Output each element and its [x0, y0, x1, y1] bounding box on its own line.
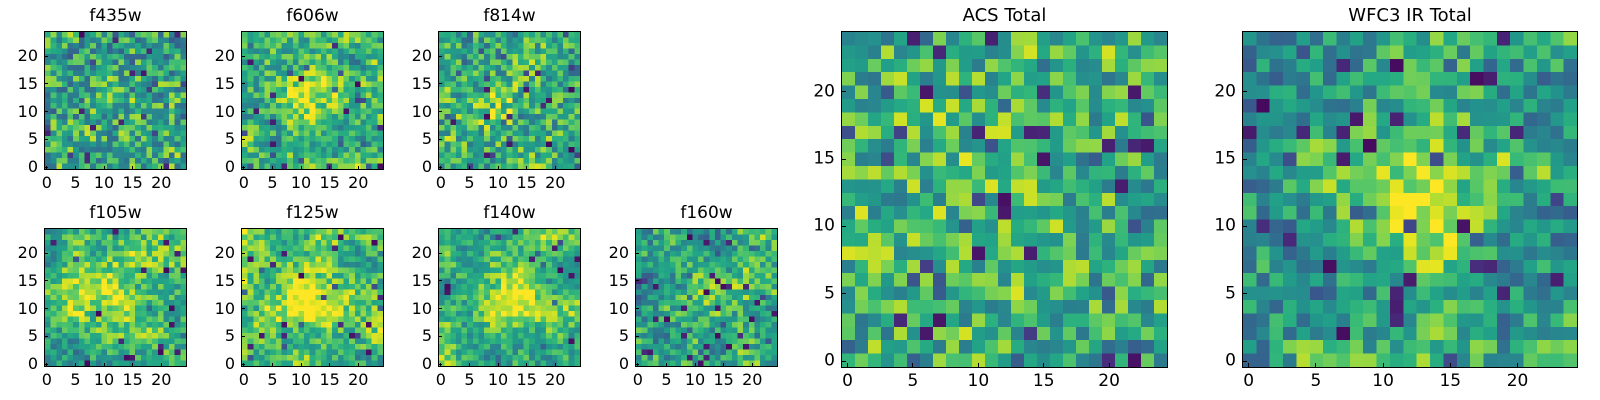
y-tickmark-wfc3-ir-total-2	[1242, 226, 1247, 227]
x-tick-label-wfc3-ir-total-1: 5	[1310, 373, 1321, 390]
y-tick-label-acs-total-3: 15	[813, 151, 835, 168]
y-tickmark-f435w-2	[44, 111, 48, 112]
x-tick-label-f435w-3: 15	[122, 175, 142, 191]
y-tickmark-f125w-3	[241, 280, 245, 281]
x-tick-label-f435w-1: 5	[70, 175, 80, 191]
x-tickmark-f140w-4	[555, 363, 556, 367]
plot-area-f160w	[635, 228, 778, 367]
x-tick-label-acs-total-2: 10	[968, 373, 990, 390]
y-tickmark-acs-total-1	[841, 293, 846, 294]
x-tick-label-f125w-3: 15	[319, 372, 339, 388]
x-tick-label-f606w-4: 20	[348, 175, 368, 191]
x-tick-label-f160w-1: 5	[661, 372, 671, 388]
x-tickmark-acs-total-0	[847, 363, 848, 368]
y-tick-label-f125w-3: 15	[215, 273, 235, 289]
x-tick-label-f105w-4: 20	[151, 372, 171, 388]
x-tickmark-f435w-1	[75, 166, 76, 170]
x-tick-label-acs-total-0: 0	[842, 373, 853, 390]
y-tickmark-f140w-1	[438, 336, 442, 337]
x-tick-label-f160w-2: 10	[685, 372, 705, 388]
x-tick-label-wfc3-ir-total-4: 20	[1507, 373, 1529, 390]
y-tick-label-f105w-0: 0	[28, 356, 38, 372]
y-tickmark-f105w-4	[44, 253, 48, 254]
y-tick-label-f160w-1: 5	[619, 328, 629, 344]
x-tickmark-wfc3-ir-total-1	[1315, 363, 1316, 368]
x-tick-label-f105w-2: 10	[94, 372, 114, 388]
panel-wfc3-ir-total: WFC3 IR Total0510152005101520	[1242, 31, 1578, 368]
x-tick-label-f814w-1: 5	[464, 175, 474, 191]
y-tickmark-f105w-3	[44, 280, 48, 281]
y-tickmark-f105w-2	[44, 308, 48, 309]
x-tickmark-f814w-2	[498, 166, 499, 170]
x-tickmark-acs-total-1	[912, 363, 913, 368]
x-tick-label-f140w-4: 20	[545, 372, 565, 388]
plot-area-f435w	[44, 31, 187, 170]
y-tick-label-f140w-1: 5	[422, 328, 432, 344]
x-tick-label-f606w-1: 5	[267, 175, 277, 191]
y-tickmark-acs-total-0	[841, 361, 846, 362]
y-tick-label-f606w-1: 5	[225, 131, 235, 147]
panel-f435w: f435w0510152005101520	[44, 31, 187, 170]
x-tick-label-f160w-4: 20	[742, 372, 762, 388]
x-tick-label-f160w-0: 0	[633, 372, 643, 388]
x-tickmark-f435w-2	[104, 166, 105, 170]
y-tick-label-f435w-0: 0	[28, 159, 38, 175]
x-tickmark-f814w-4	[555, 166, 556, 170]
heatmap-image-f160w	[636, 229, 777, 366]
y-tick-label-acs-total-4: 20	[813, 83, 835, 100]
y-tick-label-wfc3-ir-total-1: 5	[1225, 285, 1236, 302]
y-tickmark-f435w-1	[44, 139, 48, 140]
plot-area-f140w	[438, 228, 581, 367]
y-tickmark-f160w-4	[635, 253, 639, 254]
y-tick-label-f814w-4: 20	[412, 48, 432, 64]
heatmap-image-f125w	[242, 229, 383, 366]
x-tickmark-f105w-3	[132, 363, 133, 367]
y-tickmark-wfc3-ir-total-3	[1242, 159, 1247, 160]
x-tick-label-f814w-2: 10	[488, 175, 508, 191]
y-tick-label-wfc3-ir-total-3: 15	[1214, 151, 1236, 168]
y-tick-label-acs-total-0: 0	[824, 353, 835, 370]
y-tick-label-f125w-0: 0	[225, 356, 235, 372]
y-tickmark-f160w-2	[635, 308, 639, 309]
y-tickmark-f140w-3	[438, 280, 442, 281]
y-tickmark-f814w-0	[438, 167, 442, 168]
y-tickmark-f105w-1	[44, 336, 48, 337]
x-tickmark-f105w-1	[75, 363, 76, 367]
x-tick-label-f140w-0: 0	[436, 372, 446, 388]
y-tickmark-f160w-1	[635, 336, 639, 337]
y-tick-label-f160w-0: 0	[619, 356, 629, 372]
y-tickmark-wfc3-ir-total-0	[1242, 361, 1247, 362]
x-tickmark-wfc3-ir-total-0	[1248, 363, 1249, 368]
x-tick-label-f435w-4: 20	[151, 175, 171, 191]
y-tick-label-f140w-0: 0	[422, 356, 432, 372]
y-tickmark-acs-total-2	[841, 226, 846, 227]
heatmap-image-f435w	[45, 32, 186, 169]
x-tickmark-f140w-1	[469, 363, 470, 367]
panel-f160w: f160w0510152005101520	[635, 228, 778, 367]
y-tickmark-f606w-2	[241, 111, 245, 112]
x-tick-label-acs-total-4: 20	[1098, 373, 1120, 390]
panel-title-f606w: f606w	[241, 8, 384, 25]
y-tick-label-f160w-4: 20	[609, 245, 629, 261]
x-tickmark-f606w-3	[329, 166, 330, 170]
x-tick-label-f435w-0: 0	[42, 175, 52, 191]
x-tickmark-f814w-3	[526, 166, 527, 170]
y-tickmark-f140w-4	[438, 253, 442, 254]
y-tickmark-f606w-3	[241, 83, 245, 84]
x-tick-label-f160w-3: 15	[713, 372, 733, 388]
y-tickmark-f140w-0	[438, 364, 442, 365]
y-tick-label-f606w-3: 15	[215, 76, 235, 92]
plot-area-f606w	[241, 31, 384, 170]
heatmap-image-acs-total	[842, 32, 1167, 367]
y-tick-label-f606w-0: 0	[225, 159, 235, 175]
y-tickmark-f606w-0	[241, 167, 245, 168]
x-tick-label-f105w-1: 5	[70, 372, 80, 388]
panel-f140w: f140w0510152005101520	[438, 228, 581, 367]
x-tick-label-acs-total-3: 15	[1033, 373, 1055, 390]
y-tick-label-f125w-4: 20	[215, 245, 235, 261]
x-tickmark-f160w-1	[666, 363, 667, 367]
y-tick-label-wfc3-ir-total-4: 20	[1214, 83, 1236, 100]
y-tick-label-f105w-3: 15	[18, 273, 38, 289]
y-tick-label-f435w-2: 10	[18, 104, 38, 120]
x-tick-label-wfc3-ir-total-2: 10	[1372, 373, 1394, 390]
x-tick-label-f814w-3: 15	[516, 175, 536, 191]
y-tick-label-f140w-4: 20	[412, 245, 432, 261]
y-tickmark-f125w-4	[241, 253, 245, 254]
plot-area-f105w	[44, 228, 187, 367]
x-tickmark-f140w-3	[526, 363, 527, 367]
panel-title-f140w: f140w	[438, 205, 581, 222]
x-tick-label-wfc3-ir-total-3: 15	[1439, 373, 1461, 390]
x-tick-label-f140w-2: 10	[488, 372, 508, 388]
x-tick-label-f125w-0: 0	[239, 372, 249, 388]
y-tick-label-f140w-2: 10	[412, 301, 432, 317]
panel-f125w: f125w0510152005101520	[241, 228, 384, 367]
x-tick-label-f140w-1: 5	[464, 372, 474, 388]
panel-title-f125w: f125w	[241, 205, 384, 222]
x-tickmark-f105w-4	[161, 363, 162, 367]
panel-title-wfc3-ir-total: WFC3 IR Total	[1242, 7, 1578, 25]
x-tick-label-f814w-0: 0	[436, 175, 446, 191]
y-tick-label-f606w-4: 20	[215, 48, 235, 64]
x-tickmark-wfc3-ir-total-3	[1450, 363, 1451, 368]
x-tickmark-f435w-3	[132, 166, 133, 170]
panel-title-f814w: f814w	[438, 8, 581, 25]
heatmap-image-f606w	[242, 32, 383, 169]
x-tickmark-f160w-2	[695, 363, 696, 367]
x-tick-label-wfc3-ir-total-0: 0	[1243, 373, 1254, 390]
x-tickmark-f125w-1	[272, 363, 273, 367]
x-tickmark-f435w-4	[161, 166, 162, 170]
y-tick-label-f160w-2: 10	[609, 301, 629, 317]
x-tickmark-f125w-4	[358, 363, 359, 367]
x-tickmark-wfc3-ir-total-2	[1383, 363, 1384, 368]
y-tickmark-f814w-4	[438, 56, 442, 57]
y-tick-label-f125w-2: 10	[215, 301, 235, 317]
plot-area-wfc3-ir-total	[1242, 31, 1578, 368]
y-tick-label-f435w-3: 15	[18, 76, 38, 92]
y-tickmark-f435w-0	[44, 167, 48, 168]
y-tickmark-f125w-0	[241, 364, 245, 365]
y-tick-label-f606w-2: 10	[215, 104, 235, 120]
y-tickmark-f125w-2	[241, 308, 245, 309]
plot-area-f814w	[438, 31, 581, 170]
x-tick-label-f105w-0: 0	[42, 372, 52, 388]
x-tickmark-f814w-1	[469, 166, 470, 170]
y-tickmark-f814w-2	[438, 111, 442, 112]
heatmap-image-f140w	[439, 229, 580, 366]
x-tickmark-f140w-2	[498, 363, 499, 367]
x-tick-label-f125w-1: 5	[267, 372, 277, 388]
y-tickmark-f160w-3	[635, 280, 639, 281]
x-tick-label-f606w-2: 10	[291, 175, 311, 191]
y-tickmark-f814w-3	[438, 83, 442, 84]
panel-f105w: f105w0510152005101520	[44, 228, 187, 367]
x-tickmark-acs-total-4	[1109, 363, 1110, 368]
y-tickmark-f105w-0	[44, 364, 48, 365]
y-tickmark-wfc3-ir-total-4	[1242, 91, 1247, 92]
y-tick-label-acs-total-1: 5	[824, 285, 835, 302]
x-tickmark-f160w-4	[752, 363, 753, 367]
y-tickmark-f606w-4	[241, 56, 245, 57]
x-tickmark-f606w-4	[358, 166, 359, 170]
y-tick-label-f814w-1: 5	[422, 131, 432, 147]
x-tickmark-f125w-3	[329, 363, 330, 367]
x-tickmark-acs-total-2	[978, 363, 979, 368]
x-tick-label-f125w-2: 10	[291, 372, 311, 388]
y-tick-label-f435w-1: 5	[28, 131, 38, 147]
x-tick-label-f606w-3: 15	[319, 175, 339, 191]
x-tickmark-acs-total-3	[1043, 363, 1044, 368]
heatmap-image-f814w	[439, 32, 580, 169]
y-tickmark-f435w-3	[44, 83, 48, 84]
y-tick-label-wfc3-ir-total-2: 10	[1214, 218, 1236, 235]
y-tick-label-acs-total-2: 10	[813, 218, 835, 235]
y-tickmark-wfc3-ir-total-1	[1242, 293, 1247, 294]
y-tick-label-f125w-1: 5	[225, 328, 235, 344]
y-tick-label-f814w-0: 0	[422, 159, 432, 175]
y-tick-label-wfc3-ir-total-0: 0	[1225, 353, 1236, 370]
y-tickmark-acs-total-3	[841, 159, 846, 160]
y-tickmark-f606w-1	[241, 139, 245, 140]
panel-f814w: f814w0510152005101520	[438, 31, 581, 170]
heatmap-image-f105w	[45, 229, 186, 366]
panel-title-acs-total: ACS Total	[841, 7, 1168, 25]
x-tick-label-f435w-2: 10	[94, 175, 114, 191]
x-tick-label-acs-total-1: 5	[908, 373, 919, 390]
y-tickmark-f140w-2	[438, 308, 442, 309]
plot-area-acs-total	[841, 31, 1168, 368]
heatmap-image-wfc3-ir-total	[1243, 32, 1577, 367]
y-tickmark-f160w-0	[635, 364, 639, 365]
y-tick-label-f105w-2: 10	[18, 301, 38, 317]
panel-f606w: f606w0510152005101520	[241, 31, 384, 170]
x-tickmark-f606w-1	[272, 166, 273, 170]
x-tick-label-f125w-4: 20	[348, 372, 368, 388]
x-tickmark-f125w-2	[301, 363, 302, 367]
x-tickmark-wfc3-ir-total-4	[1517, 363, 1518, 368]
x-tickmark-f160w-3	[723, 363, 724, 367]
x-tick-label-f140w-3: 15	[516, 372, 536, 388]
x-tick-label-f105w-3: 15	[122, 372, 142, 388]
panel-title-f160w: f160w	[635, 205, 778, 222]
y-tick-label-f140w-3: 15	[412, 273, 432, 289]
x-tick-label-f814w-4: 20	[545, 175, 565, 191]
plot-area-f125w	[241, 228, 384, 367]
y-tick-label-f105w-1: 5	[28, 328, 38, 344]
x-tick-label-f606w-0: 0	[239, 175, 249, 191]
panel-title-f435w: f435w	[44, 8, 187, 25]
y-tickmark-f814w-1	[438, 139, 442, 140]
y-tick-label-f814w-3: 15	[412, 76, 432, 92]
panel-acs-total: ACS Total0510152005101520	[841, 31, 1168, 368]
x-tickmark-f606w-2	[301, 166, 302, 170]
y-tickmark-f435w-4	[44, 56, 48, 57]
figure-canvas: f435w0510152005101520f606w05101520051015…	[0, 0, 1600, 400]
y-tick-label-f105w-4: 20	[18, 245, 38, 261]
y-tickmark-f125w-1	[241, 336, 245, 337]
y-tick-label-f435w-4: 20	[18, 48, 38, 64]
x-tickmark-f105w-2	[104, 363, 105, 367]
y-tick-label-f160w-3: 15	[609, 273, 629, 289]
y-tickmark-acs-total-4	[841, 91, 846, 92]
panel-title-f105w: f105w	[44, 205, 187, 222]
y-tick-label-f814w-2: 10	[412, 104, 432, 120]
